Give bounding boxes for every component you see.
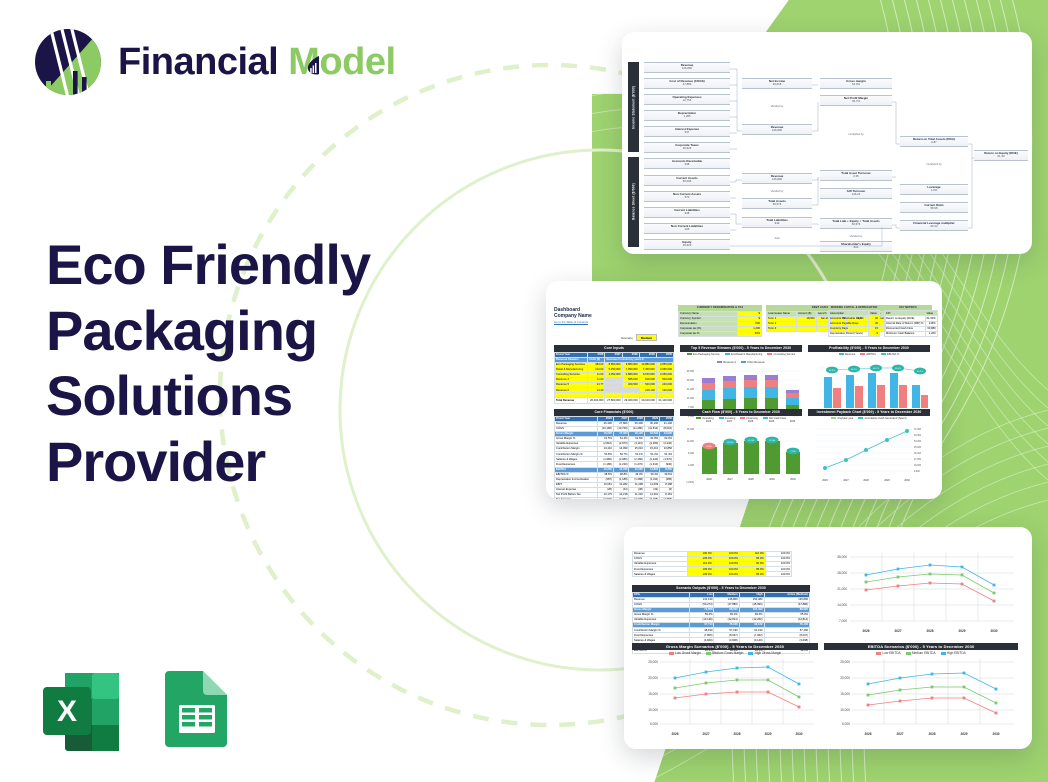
svg-text:2027: 2027 (702, 732, 709, 736)
dashboard-toc-link[interactable]: Go to the Table of Contents (554, 320, 674, 324)
svg-text:2027: 2027 (894, 629, 901, 633)
svg-text:X: X (57, 695, 77, 728)
table-scenario-assumptions: Revenue100.0%100.0%110.0%100.0% COGS105.… (632, 551, 792, 577)
chart-cash-flow: Cash Flow ($'000) - 5 Years to December … (680, 409, 802, 494)
chart-investment-payback: Investment Payback Chart ($'000) - 5 Yea… (808, 409, 930, 494)
svg-text:2030: 2030 (990, 629, 997, 633)
svg-text:46.4%: 46.4% (895, 367, 901, 369)
svg-text:27,000: 27,000 (914, 459, 922, 461)
line-chart-payback: 72,00063,00054,000 45,00036,00027,000 18… (808, 421, 930, 489)
svg-text:2029: 2029 (764, 732, 771, 736)
node-operating-expenses: Operating Expenses12,754 (644, 94, 730, 105)
svg-text:2028: 2028 (928, 732, 935, 736)
svg-text:63,000: 63,000 (914, 435, 922, 437)
svg-text:2028: 2028 (926, 629, 933, 633)
node-revenue-mid-2: Revenue126,800 (742, 173, 812, 184)
core-financials-title: Core Financials ($'000) (554, 409, 674, 416)
node-total-liab-equity: Total Liab + Equity = Total Assets50,576 (820, 218, 892, 229)
screenshot-card-scenarios[interactable]: Revenue100.0%100.0%110.0%100.0% COGS105.… (624, 527, 1032, 749)
node-equity: Equity49,629 (644, 239, 730, 250)
google-sheets-icon (157, 665, 235, 757)
svg-text:20,000: 20,000 (840, 676, 850, 680)
headline-line-3: Solutions (46, 363, 446, 429)
svg-text:2030: 2030 (992, 732, 999, 736)
operator-divided-by-2: divided by (742, 189, 812, 193)
node-non-current-liabilities: Non Current Liabilities105 (644, 223, 730, 234)
chart-scenario-trend: 35,00028,00021,000 14,0007,000 202620272… (820, 549, 1018, 646)
svg-text:21,000: 21,000 (687, 388, 695, 391)
node-current-assets: Current Assets50,006 (644, 175, 730, 186)
svg-text:(4,000): (4,000) (686, 481, 694, 484)
svg-text:35,000: 35,000 (687, 370, 695, 373)
svg-text:5,000: 5,000 (650, 722, 658, 726)
bar-chart-glyph-icon (306, 55, 320, 75)
svg-text:2026: 2026 (822, 479, 828, 482)
panel-currency-denomination-tax: CURRENCY DENOMINATION & TAX Currency Nam… (678, 305, 762, 337)
brand-logo: Financial Model (33, 27, 396, 97)
svg-text:2029: 2029 (958, 629, 965, 633)
svg-text:44.6%: 44.6% (829, 369, 835, 371)
section-label-income-statement: Income Statement ($'000) (628, 62, 639, 152)
node-current-liabilities: Current Liabilities948 (644, 207, 730, 218)
dashboard-header: Dashboard Company Name Go to the Table o… (554, 307, 674, 324)
svg-text:2029: 2029 (960, 732, 967, 736)
svg-text:2028: 2028 (733, 732, 740, 736)
svg-text:15,000: 15,000 (648, 692, 658, 696)
svg-text:20,000: 20,000 (648, 676, 658, 680)
headline-line-1: Eco Friendly (46, 232, 446, 298)
svg-text:25,000: 25,000 (840, 660, 850, 664)
line-chart-scenario-trend: 35,00028,00021,000 14,0007,000 202620272… (820, 549, 1018, 641)
svg-text:9,000: 9,000 (914, 471, 920, 473)
screenshot-card-dashboard[interactable]: Dashboard Company Name Go to the Table o… (546, 281, 942, 499)
dashboard-sheet: Dashboard Company Name Go to the Table o… (546, 281, 942, 499)
headline-line-4: Provider (46, 429, 446, 495)
svg-text:14,000: 14,000 (837, 603, 847, 607)
node-return-on-equity: Return on Equity (ROE)61.33 (974, 150, 1028, 161)
svg-text:2027: 2027 (896, 732, 903, 736)
brand-word-financial: Financial (118, 41, 278, 83)
bar-chart-cash-flow: 16,00012,0008,0004,000(4,000) 9 (680, 421, 802, 489)
panel-key-metrics: KEY METRICS KPIValue Return on Equity (R… (884, 305, 932, 337)
brand-word-model: Model (288, 43, 395, 81)
svg-text:2030: 2030 (790, 478, 796, 481)
svg-text:7,000: 7,000 (839, 619, 847, 623)
node-financial-leverage-multiplier: Financial Leverage multiplier63.22 (900, 220, 968, 231)
svg-text:36,000: 36,000 (914, 453, 922, 455)
node-return-on-total-assets: Return on Total Assets (ROA)0.87 (900, 136, 968, 147)
node-shareholders-equity: Shareholder's Equity800 (820, 241, 892, 252)
node-revenue-mid: Revenue126,800 (742, 124, 812, 135)
svg-text:2026: 2026 (864, 732, 871, 736)
svg-text:28,000: 28,000 (837, 571, 847, 575)
brand-wordmark: Financial Model (118, 43, 396, 81)
svg-text:4,000: 4,000 (688, 464, 695, 467)
panel-working-capital: WORKING CAPITAL & DEPRECIATION Assumptio… (828, 305, 880, 337)
node-revenue: Revenue126,800 (644, 62, 730, 73)
operator-divided-by-1: divided by (742, 104, 812, 108)
screenshot-card-financial-ratio-tree[interactable]: Income Statement ($'000) Balance Sheet (… (622, 32, 1032, 254)
svg-text:2026: 2026 (706, 478, 712, 481)
svg-text:10,500: 10,500 (727, 441, 734, 443)
node-cogs: Cost of Revenue (COGS)47,880 (644, 78, 730, 89)
operator-add: Add (742, 236, 812, 240)
node-interest-expense: Interest Expense537 (644, 126, 730, 137)
svg-text:72,000: 72,000 (914, 429, 922, 431)
operator-multiplied-by-2: multiplied by (900, 162, 968, 166)
node-current-ratio: Current Ratio58.98 (900, 202, 968, 213)
svg-text:54,000: 54,000 (914, 441, 922, 443)
page-title: Eco Friendly Packaging Solutions Provide… (46, 232, 446, 494)
node-corporate-taxes: Corporate Taxes20,626 (644, 142, 730, 153)
svg-text:2030: 2030 (904, 479, 910, 482)
ratio-tree-sheet: Income Statement ($'000) Balance Sheet (… (622, 32, 1032, 254)
chart-title-profitability: Profitability ($'000) - 5 Years to Decem… (808, 345, 930, 352)
table-core-inputs: Core Inputs Fiscal Year20262027202820292… (554, 345, 674, 404)
svg-text:10,000: 10,000 (840, 708, 850, 712)
svg-text:5,000: 5,000 (842, 722, 850, 726)
microsoft-excel-icon: X (35, 665, 127, 757)
poster-canvas: Financial Model Eco Friendly Packaging S… (0, 0, 1048, 782)
svg-text:28,000: 28,000 (687, 379, 695, 382)
node-leverage: Leverage1.0% (900, 184, 968, 195)
chart-title-ebitda-scenarios: EBITDA Scenarios ($'000) - 5 Years to De… (824, 643, 1018, 650)
pie-bar-chart-circle-icon (33, 27, 103, 97)
svg-text:46.2%: 46.2% (851, 368, 857, 370)
svg-text:21,000: 21,000 (837, 587, 847, 591)
svg-text:14,000: 14,000 (687, 397, 695, 400)
chart-gross-margin-scenarios: Gross Margin Scenarios ($'000) - 5 Years… (632, 643, 818, 747)
operator-divided-by-3: divided by (820, 234, 892, 238)
svg-text:18,000: 18,000 (914, 465, 922, 467)
core-inputs-title: Core Inputs (554, 345, 674, 352)
svg-text:35,000: 35,000 (837, 555, 847, 559)
svg-text:2029: 2029 (769, 478, 775, 481)
svg-text:2030: 2030 (795, 732, 802, 736)
svg-text:43.2%: 43.2% (917, 370, 923, 372)
chart-ebitda-scenarios: EBITDA Scenarios ($'000) - 5 Years to De… (824, 643, 1018, 747)
svg-text:9,000: 9,000 (706, 445, 712, 447)
svg-text:45,000: 45,000 (914, 447, 922, 449)
svg-text:15,000: 15,000 (840, 692, 850, 696)
scenario-value[interactable]: Medium (636, 334, 657, 341)
svg-text:12,000: 12,000 (687, 440, 695, 443)
chart-title-revenue-streams: Top 5 Revenue Streams ($'000) - 5 Years … (680, 345, 802, 352)
svg-text:2028: 2028 (748, 478, 754, 481)
scenario-label: Scenario (621, 336, 633, 340)
legend-revenue-streams: Eco Packaging Service Eco/Retail & Manuf… (680, 352, 802, 365)
node-total-liabilities: Total Liabilities949 (742, 217, 812, 228)
table-core-financials: Core Financials ($'000) Fiscal Year20262… (554, 409, 674, 499)
scenarios-sheet: Revenue100.0%100.0%110.0%100.0% COGS105.… (624, 527, 1032, 749)
node-non-current-assets: Non Current Assets570 (644, 191, 730, 202)
operator-multiplied-by-1: multiplied by (820, 132, 892, 136)
headline-line-2: Packaging (46, 298, 446, 364)
node-total-asset-turnover: Total Asset Turnover2.35 (820, 170, 892, 181)
svg-text:7,200: 7,200 (790, 450, 796, 452)
line-chart-gross-margin: 25,00020,00015,000 10,0005,000 202620272… (632, 656, 818, 742)
svg-text:2028: 2028 (863, 479, 869, 482)
svg-text:25,000: 25,000 (648, 660, 658, 664)
file-format-icons: X (35, 665, 235, 757)
svg-text:2027: 2027 (727, 478, 733, 481)
svg-text:8,000: 8,000 (688, 452, 695, 455)
chart-title-cash-flow: Cash Flow ($'000) - 5 Years to December … (680, 409, 802, 416)
svg-text:2026: 2026 (862, 629, 869, 633)
node-depreciation: Depreciation1,285 (644, 110, 730, 121)
svg-text:2026: 2026 (671, 732, 678, 736)
node-ar-turnover: A/R Turnover146.24 (820, 188, 892, 199)
svg-text:16,000: 16,000 (687, 428, 695, 431)
scenario-selector[interactable]: Scenario Medium (621, 334, 657, 341)
svg-text:2029: 2029 (884, 479, 890, 482)
section-label-balance-sheet: Balance Sheet ($'000) (628, 157, 639, 247)
line-chart-ebitda: 25,00020,00015,000 10,0005,000 202620272… (824, 656, 1018, 742)
svg-text:2027: 2027 (843, 479, 849, 482)
chart-title-gross-margin-scenarios: Gross Margin Scenarios ($'000) - 5 Years… (632, 643, 818, 650)
svg-text:10,000: 10,000 (648, 708, 658, 712)
node-net-profit-margin: Net Profit Margin36.7% (820, 95, 892, 106)
node-gross-margin: Gross margin62.0% (820, 78, 892, 89)
svg-text:46.7%: 46.7% (873, 367, 879, 369)
svg-text:11,200: 11,200 (769, 439, 776, 441)
node-net-income: Net Income46,618 (742, 78, 812, 89)
scenario-outputs-title: Scenario Outputs ($'000) - 5 Years to De… (632, 585, 810, 592)
node-total-assets: Total Assets50,576 (742, 198, 812, 209)
svg-text:11,200: 11,200 (748, 439, 755, 441)
chart-title-payback: Investment Payback Chart ($'000) - 5 Yea… (808, 409, 930, 416)
node-accounts-receivable: Accounts Receivable948 (644, 158, 730, 169)
